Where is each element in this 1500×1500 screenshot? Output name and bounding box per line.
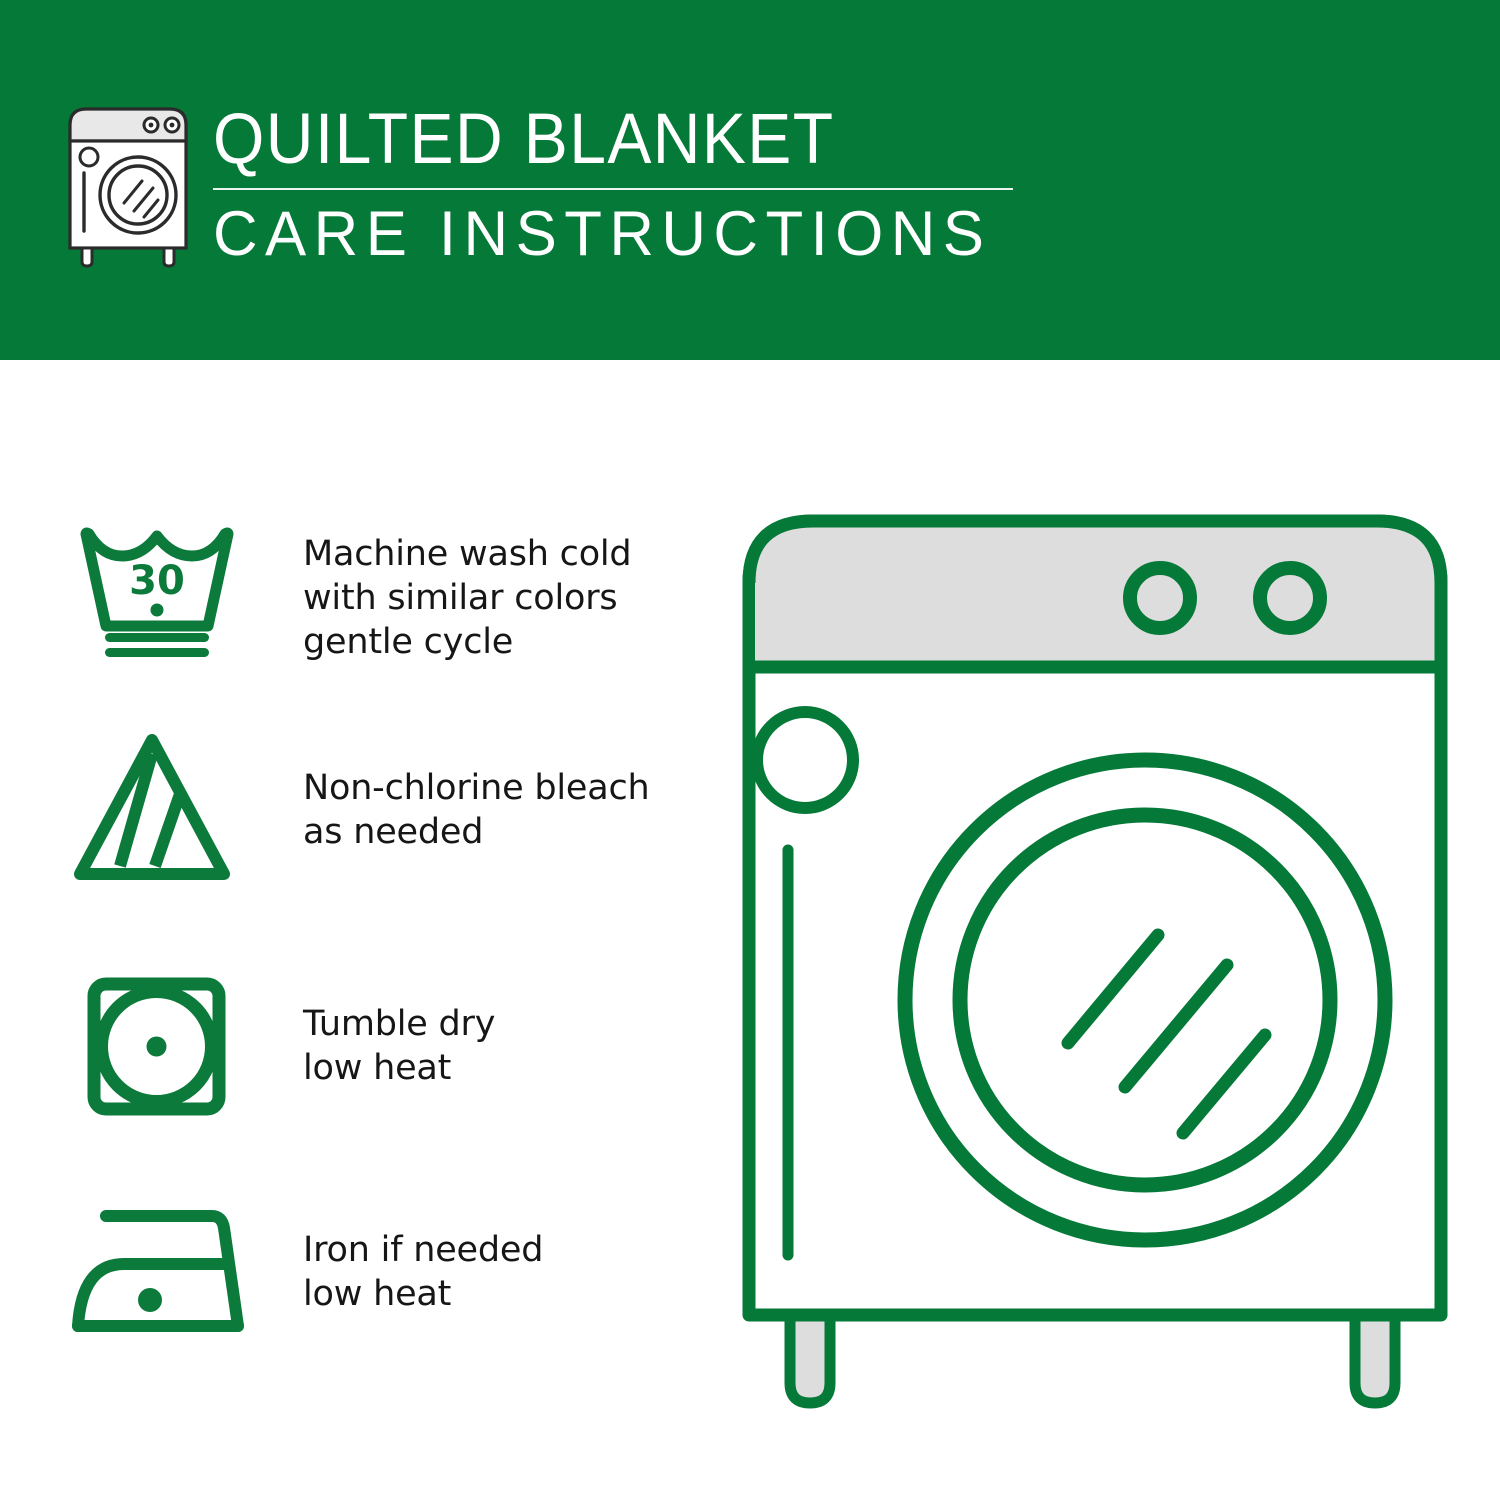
care-instructions-infographic: QUILTED BLANKET CARE INSTRUCTIONS 30 (0, 0, 1500, 1500)
machine-wash-30-icon: 30 (72, 522, 242, 692)
svg-text:30: 30 (129, 558, 185, 604)
page-title: QUILTED BLANKET (213, 100, 966, 180)
care-text-bleach: Non-chlorine bleach as needed (303, 766, 649, 854)
page-subtitle: CARE INSTRUCTIONS (213, 197, 1007, 271)
care-text-tumble-dry: Tumble dry low heat (303, 1002, 495, 1090)
washing-machine-icon (62, 103, 194, 268)
care-text-iron: Iron if needed low heat (303, 1228, 543, 1316)
header-band: QUILTED BLANKET CARE INSTRUCTIONS (0, 0, 1500, 360)
title-divider (213, 188, 1013, 190)
care-row-bleach: Non-chlorine bleach as needed (0, 718, 740, 948)
care-instruction-list: 30 Machine wash cold with similar colors… (0, 360, 740, 1500)
care-text-machine-wash: Machine wash cold with similar colors ge… (303, 532, 631, 664)
front-load-washing-machine-illustration (735, 495, 1455, 1425)
header-text-block: QUILTED BLANKET CARE INSTRUCTIONS (213, 100, 1023, 271)
non-chlorine-bleach-triangle-icon (72, 728, 242, 898)
iron-low-heat-icon (70, 1198, 240, 1368)
tumble-dry-low-icon (84, 974, 254, 1144)
care-row-iron: Iron if needed low heat (0, 1170, 740, 1400)
care-row-machine-wash: 30 Machine wash cold with similar colors… (0, 508, 740, 738)
care-row-tumble-dry: Tumble dry low heat (0, 950, 740, 1180)
